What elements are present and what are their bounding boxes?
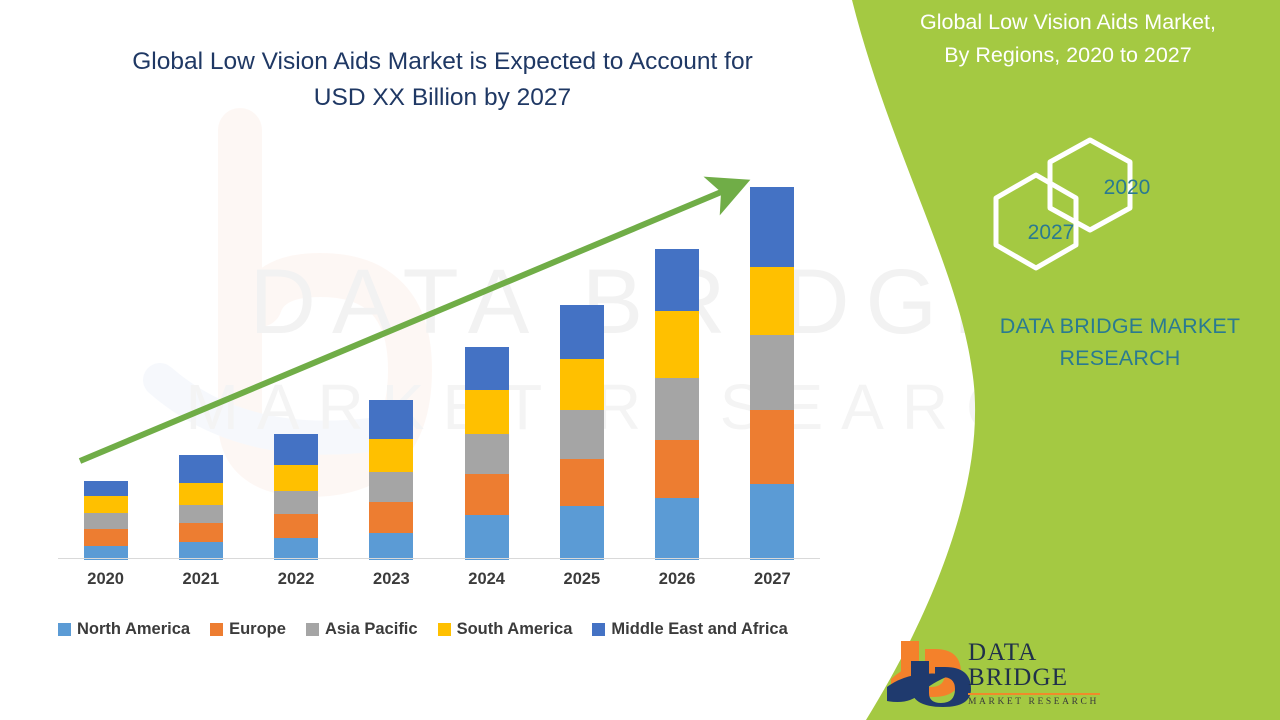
x-label-2025: 2025 (534, 570, 630, 589)
panel-title-line1: Global Low Vision Aids Market, (858, 6, 1278, 39)
legend-label: Asia Pacific (325, 620, 418, 639)
bar-2025 (560, 305, 604, 560)
x-label-2026: 2026 (629, 570, 725, 589)
segment-north-america (274, 538, 318, 560)
legend-swatch-icon (210, 623, 223, 636)
x-label-2021: 2021 (153, 570, 249, 589)
segment-europe (560, 459, 604, 506)
legend-swatch-icon (306, 623, 319, 636)
segment-asia-pacific (655, 378, 699, 440)
x-axis-labels: 20202021202220232024202520262027 (58, 570, 820, 600)
legend-item-north-america[interactable]: North America (58, 620, 190, 639)
legend-label: Middle East and Africa (611, 620, 787, 639)
logo-sub-text: MARKET RESEARCH (968, 698, 1128, 708)
segment-south-america (560, 359, 604, 410)
legend-label: South America (457, 620, 573, 639)
segment-south-america (369, 439, 413, 472)
logo-divider (968, 693, 1100, 695)
segment-asia-pacific (750, 335, 794, 410)
segment-south-america (465, 390, 509, 434)
bar-chart-plot (58, 150, 820, 560)
segment-north-america (369, 533, 413, 560)
hexagon-label-2027: 2027 (986, 221, 1116, 245)
segment-europe (179, 523, 223, 542)
segment-europe (369, 502, 413, 533)
data-bridge-logo-text: DATA BRIDGE MARKET RESEARCH (968, 640, 1128, 707)
segment-north-america (465, 515, 509, 560)
segment-asia-pacific (274, 491, 318, 514)
bar-2027 (750, 187, 794, 560)
segment-asia-pacific (369, 472, 413, 502)
segment-middle-east-and-africa (274, 434, 318, 465)
segment-north-america (655, 498, 699, 560)
panel-title-line2: By Regions, 2020 to 2027 (858, 39, 1278, 72)
segment-europe (465, 474, 509, 515)
panel-title: Global Low Vision Aids Market, By Region… (858, 6, 1278, 73)
segment-asia-pacific (84, 513, 128, 529)
legend-label: North America (77, 620, 190, 639)
segment-middle-east-and-africa (560, 305, 604, 359)
chart-title: Global Low Vision Aids Market is Expecte… (70, 44, 815, 117)
panel-brand-text: DATA BRIDGE MARKET RESEARCH (960, 310, 1280, 375)
segment-south-america (274, 465, 318, 491)
panel-brand-line1: DATA BRIDGE MARKET (960, 310, 1280, 342)
chart-title-line1: Global Low Vision Aids Market is Expecte… (70, 44, 815, 80)
bar-2023 (369, 400, 413, 560)
segment-middle-east-and-africa (369, 400, 413, 439)
x-label-2022: 2022 (248, 570, 344, 589)
segment-middle-east-and-africa (84, 481, 128, 496)
x-label-2020: 2020 (58, 570, 154, 589)
legend-item-south-america[interactable]: South America (438, 620, 573, 639)
chart-title-line2: USD XX Billion by 2027 (70, 80, 815, 116)
legend-label: Europe (229, 620, 286, 639)
segment-middle-east-and-africa (179, 455, 223, 483)
segment-north-america (750, 484, 794, 560)
segment-asia-pacific (465, 434, 509, 474)
bar-2021 (179, 455, 223, 560)
segment-middle-east-and-africa (750, 187, 794, 267)
segment-north-america (560, 506, 604, 560)
x-label-2027: 2027 (724, 570, 820, 589)
segment-europe (84, 529, 128, 546)
logo-main-text: DATA BRIDGE (968, 640, 1128, 690)
legend-item-middle-east-and-africa[interactable]: Middle East and Africa (592, 620, 787, 639)
hexagon-label-2020: 2020 (1062, 176, 1192, 200)
legend-swatch-icon (58, 623, 71, 636)
infographic-canvas: DATA BRIDGE MARKET RESEARCH Global Low V… (0, 0, 1280, 720)
bar-2026 (655, 249, 699, 560)
segment-europe (655, 440, 699, 498)
bar-2020 (84, 481, 128, 560)
x-label-2024: 2024 (439, 570, 535, 589)
chart-legend: North AmericaEuropeAsia PacificSouth Ame… (58, 616, 838, 642)
segment-europe (274, 514, 318, 538)
bar-2024 (465, 347, 509, 560)
segment-asia-pacific (560, 410, 604, 459)
x-label-2023: 2023 (343, 570, 439, 589)
legend-item-asia-pacific[interactable]: Asia Pacific (306, 620, 418, 639)
segment-middle-east-and-africa (655, 249, 699, 311)
segment-south-america (655, 311, 699, 378)
segment-south-america (179, 483, 223, 505)
hexagon-pair (980, 135, 1180, 290)
legend-item-europe[interactable]: Europe (210, 620, 286, 639)
segment-middle-east-and-africa (465, 347, 509, 390)
segment-europe (750, 410, 794, 484)
bar-2022 (274, 434, 318, 560)
panel-brand-line2: RESEARCH (960, 342, 1280, 374)
legend-swatch-icon (438, 623, 451, 636)
segment-south-america (84, 496, 128, 513)
legend-swatch-icon (592, 623, 605, 636)
segment-asia-pacific (179, 505, 223, 523)
segment-south-america (750, 267, 794, 335)
x-axis-line (58, 558, 820, 559)
